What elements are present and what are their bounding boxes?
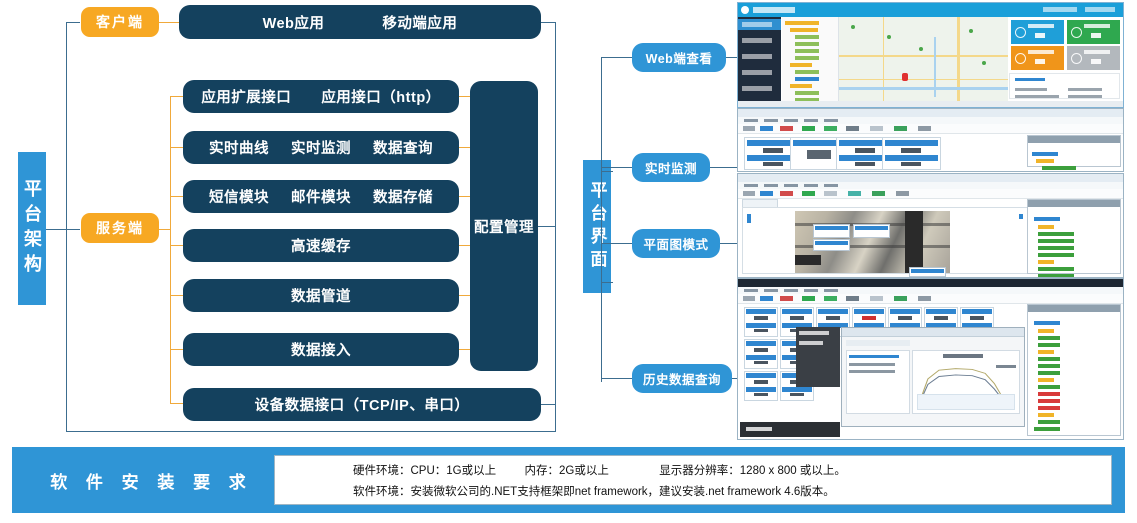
tree-node-9-alarm[interactable] (1038, 406, 1060, 410)
map-poi-3[interactable] (919, 47, 923, 51)
ui-trunk-label-join-top (601, 171, 613, 172)
config-stub-1 (459, 96, 470, 97)
tile-value-1b (763, 162, 783, 166)
dialog-tabs[interactable] (846, 340, 910, 346)
client-item-web: Web应用 (263, 12, 325, 33)
callout-history-query[interactable]: 历史数据查询 (632, 364, 732, 393)
status-bar (738, 101, 1123, 107)
menu-item-1[interactable] (744, 289, 758, 292)
sidebar-item-1[interactable] (742, 22, 772, 27)
tree-node-7-alarm[interactable] (1038, 392, 1060, 396)
tile-header-3 (818, 309, 848, 314)
toolbar-button-3[interactable] (780, 126, 793, 131)
config-management-label: 配置管理 (474, 216, 534, 237)
toolbar-button-2[interactable] (760, 191, 773, 196)
toolbar-button-3[interactable] (780, 191, 793, 196)
tree-node-5[interactable] (1038, 371, 1060, 375)
menu-item-1[interactable] (744, 184, 758, 187)
tile-header-4b (885, 155, 938, 161)
left-frame-config-join (538, 226, 556, 227)
service-item-data-query: 数据查询 (373, 137, 433, 158)
menu-item-3[interactable] (784, 184, 798, 187)
config-stub-4 (459, 245, 470, 246)
menu-item-3[interactable] (784, 289, 798, 292)
info-row-1-label (1015, 88, 1047, 91)
menu-item-2[interactable] (764, 289, 778, 292)
tree-node-4[interactable] (795, 56, 819, 60)
map-canvas[interactable] (839, 17, 1008, 101)
service-item-high-speed-cache: 高速缓存 (291, 235, 351, 256)
config-stub-3 (459, 196, 470, 197)
sidebar-item-2[interactable] (742, 38, 772, 43)
menu-item-2[interactable] (764, 119, 778, 122)
header-menu-placeholder (1043, 7, 1077, 12)
config-stub-6 (459, 349, 470, 350)
tree-node-1[interactable] (1038, 336, 1060, 340)
toolbar-button-9[interactable] (918, 126, 931, 131)
dialog-titlebar (842, 328, 1024, 337)
service-item-realtime-monitor: 实时监测 (291, 137, 351, 158)
map-marker-selected[interactable] (902, 73, 908, 81)
tree-group-1[interactable] (1038, 225, 1054, 229)
sensor-label-1[interactable] (813, 224, 850, 238)
menu-item-3[interactable] (784, 119, 798, 122)
tile-status-2 (807, 150, 831, 159)
map-poi-5[interactable] (982, 61, 986, 65)
tree-group-4[interactable] (790, 84, 812, 88)
context-menu[interactable] (796, 327, 840, 387)
footer-log-panel (740, 422, 840, 437)
canvas-handle-right[interactable] (1019, 214, 1023, 219)
tile-value-1 (754, 316, 768, 320)
kpi-card-alarm[interactable] (1011, 46, 1064, 70)
kpi-label-2 (1084, 24, 1110, 28)
config-management-box[interactable]: 配置管理 (470, 81, 538, 371)
toolbar-button-6[interactable] (846, 126, 859, 131)
callout-2-to-shot (710, 167, 740, 168)
banner-requirements-card: 硬件环境：CPU：1G或以上 内存：2G或以上 显示器分辨率：1280 x 80… (274, 455, 1112, 505)
toolbar[interactable] (738, 124, 1123, 134)
ui-trunk-label-join-bottom (601, 282, 613, 283)
panel-header (1028, 305, 1120, 312)
service-item-realtime-curve: 实时曲线 (209, 137, 269, 158)
bus-stub-5 (170, 295, 183, 296)
tree-group-1[interactable] (785, 21, 819, 25)
kpi-value-1 (1035, 33, 1045, 38)
tile-header-1b (746, 323, 776, 328)
map-road-h1 (839, 55, 1008, 57)
software-requirements-banner: 软 件 安 装 要 求 硬件环境：CPU：1G或以上 内存：2G或以上 显示器分… (12, 447, 1125, 513)
toolbar[interactable] (738, 189, 1123, 199)
sensor-label-header-1 (815, 226, 848, 230)
tree-node-1[interactable] (795, 35, 819, 39)
map-road-h2 (839, 79, 1008, 80)
kpi-label-3 (1028, 50, 1054, 54)
measurement-tile-8[interactable] (744, 339, 778, 369)
tree-node-8-alarm[interactable] (1038, 399, 1060, 403)
kpi-icon-3 (1015, 53, 1026, 64)
tree-node-6[interactable] (795, 91, 819, 95)
info-row-2-label (1015, 95, 1059, 98)
tile-header-10b (746, 387, 776, 392)
device-tree-panel[interactable] (1027, 199, 1121, 274)
kpi-value-3 (1035, 59, 1045, 64)
tree-node-1[interactable] (1038, 232, 1074, 236)
tile-header-7 (962, 309, 992, 314)
tree-node-3[interactable] (795, 49, 819, 53)
kpi-card-online[interactable] (1067, 20, 1120, 44)
chart-title-placeholder (943, 354, 983, 358)
device-tree-panel[interactable] (1027, 135, 1121, 167)
config-stub-5 (459, 295, 470, 296)
kpi-card-total[interactable] (1011, 20, 1064, 44)
photo-dark-2 (795, 255, 821, 265)
kpi-icon-2 (1071, 27, 1082, 38)
toolbar-button-8[interactable] (896, 191, 909, 196)
service-item-data-storage: 数据存储 (373, 186, 433, 207)
history-query-screenshot[interactable] (737, 278, 1124, 440)
tree-node-5[interactable] (795, 70, 819, 74)
trunk-to-server-line (66, 229, 80, 230)
service-item-sms-module: 短信模块 (209, 186, 269, 207)
tile-value-10 (754, 380, 768, 384)
toolbar-button-2[interactable] (760, 296, 773, 301)
tree-group-2[interactable] (1038, 260, 1054, 264)
toolbar-button-5[interactable] (824, 126, 837, 131)
sensor-label-3[interactable] (813, 239, 850, 251)
tree-node-3[interactable] (1038, 357, 1060, 361)
history-trend-chart[interactable] (912, 350, 1020, 414)
tree-group-2[interactable] (790, 28, 818, 32)
map-dashboard-screenshot[interactable] (737, 2, 1124, 108)
tile-value-6 (934, 316, 948, 320)
footer-log-text (746, 427, 772, 431)
kpi-label-1 (1028, 24, 1054, 28)
tile-value-4-alarm (862, 316, 876, 320)
service-row-api[interactable]: 应用扩展接口 应用接口（http） (183, 80, 459, 113)
bus-stub-1 (170, 96, 183, 97)
tile-value-3b (855, 162, 875, 166)
floor-plan-screenshot[interactable] (737, 173, 1124, 278)
device-data-interface-box[interactable]: 设备数据接口（TCP/IP、串口） (183, 388, 541, 421)
bus-stub-2 (170, 147, 183, 148)
menu-item-1[interactable] (744, 119, 758, 122)
banner-title: 软 件 安 装 要 求 (34, 461, 269, 499)
service-item-data-pipeline: 数据管道 (291, 285, 351, 306)
tree-group-1[interactable] (1036, 159, 1054, 163)
tree-node-3[interactable] (1038, 246, 1074, 250)
tree-node-10[interactable] (1038, 420, 1060, 424)
info-row-1-value (1068, 88, 1102, 91)
toolbar-button-4[interactable] (802, 296, 815, 301)
toolbar[interactable] (738, 294, 1123, 304)
canvas-handle-left[interactable] (747, 214, 751, 223)
sidebar-item-5[interactable] (742, 86, 772, 91)
tile-value-7 (970, 316, 984, 320)
map-poi-2[interactable] (887, 35, 891, 39)
left-frame-left-bottom (66, 229, 67, 432)
device-tree-panel[interactable] (782, 17, 839, 101)
menu-item-4[interactable] (804, 184, 818, 187)
service-row-pipeline[interactable]: 数据管道 (183, 279, 459, 312)
service-item-app-api-http: 应用接口（http） (321, 86, 440, 107)
tile-header-2 (782, 309, 812, 314)
callout-realtime-monitor-label: 实时监测 (645, 158, 697, 177)
chart-range-brush[interactable] (917, 394, 1015, 410)
service-row-ingest[interactable]: 数据接入 (183, 333, 459, 366)
tree-root[interactable] (1034, 217, 1060, 221)
tier-badge-server[interactable]: 服务端 (81, 213, 159, 243)
panel-header (1028, 200, 1120, 207)
menu-item-4[interactable] (804, 289, 818, 292)
panel-header (1028, 136, 1120, 143)
callout-4-line (601, 378, 633, 379)
tile-value-5 (898, 316, 912, 320)
toolbar-button-8[interactable] (894, 126, 907, 131)
tree-node-2[interactable] (1038, 239, 1074, 243)
menu-item-5[interactable] (824, 289, 838, 292)
service-row-monitoring[interactable]: 实时曲线 实时监测 数据查询 (183, 131, 459, 164)
toolbar-button-2[interactable] (760, 126, 773, 131)
tree-node-selected[interactable] (795, 77, 819, 81)
tile-value-1 (763, 148, 783, 153)
callout-1-line (601, 57, 633, 58)
tree-group-4[interactable] (1038, 413, 1054, 417)
measurement-tile-1[interactable] (744, 307, 778, 337)
tree-node-5[interactable] (1038, 267, 1074, 271)
left-frame-bottom (66, 431, 556, 432)
map-river-2 (934, 37, 936, 97)
ui-trunk-vertical (601, 57, 602, 382)
tree-node-6[interactable] (1038, 385, 1060, 389)
callout-3-line (601, 243, 633, 244)
context-menu-item-1[interactable] (799, 331, 829, 335)
tree-group-2[interactable] (1038, 350, 1054, 354)
tile-header-10 (746, 373, 776, 378)
info-panel-title (1015, 78, 1045, 81)
tree-root[interactable] (1032, 152, 1058, 156)
toolbar-button-4[interactable] (802, 191, 815, 196)
callout-history-query-label: 历史数据查询 (643, 369, 721, 388)
grid-row-2[interactable] (849, 370, 895, 373)
tree-group-3[interactable] (1038, 378, 1054, 382)
software-requirement-text: 软件环境：安装微软公司的.NET支持框架即net framework，建议安装.… (353, 486, 835, 498)
hardware-resolution: 显示器分辨率：1280 x 800 或以上。 (659, 465, 846, 477)
window-titlebar (738, 279, 1123, 287)
left-frame-device-join (541, 404, 555, 405)
server-bus-vertical (170, 96, 171, 404)
device-tree-panel[interactable] (1027, 304, 1121, 436)
service-row-cache[interactable]: 高速缓存 (183, 229, 459, 262)
tile-value-4 (901, 148, 921, 153)
measurement-tile-10[interactable] (744, 371, 778, 401)
tree-node-2[interactable] (1038, 343, 1060, 347)
menu-bar[interactable] (738, 287, 1123, 294)
sensor-label-2[interactable] (853, 224, 890, 238)
bus-stub-7 (170, 403, 183, 404)
callout-floor-plan-mode-label: 平面图模式 (643, 234, 708, 253)
tile-value-3 (855, 148, 875, 153)
callout-floor-plan-mode[interactable]: 平面图模式 (632, 229, 720, 258)
toolbar-button-4[interactable] (802, 126, 815, 131)
map-poi-4[interactable] (969, 29, 973, 33)
toolbar-button-6[interactable] (846, 296, 859, 301)
context-menu-item-2[interactable] (799, 341, 823, 345)
map-river (839, 87, 1008, 90)
photo-dark-1 (905, 211, 923, 273)
toolbar-button-7[interactable] (872, 191, 885, 196)
menu-bar[interactable] (738, 117, 1123, 124)
header-user-placeholder (1085, 7, 1115, 12)
tree-group-1[interactable] (1038, 329, 1054, 333)
toolbar-button-5[interactable] (824, 191, 837, 196)
menu-item-5[interactable] (824, 119, 838, 122)
tile-value-8b (754, 361, 768, 364)
sensor-label-header-2 (855, 226, 888, 230)
tile-header-8b (746, 355, 776, 360)
floor-plan-canvas[interactable] (742, 207, 1028, 274)
tile-header-6 (926, 309, 956, 314)
kpi-icon-1 (1015, 27, 1026, 38)
tree-node-2[interactable] (795, 42, 819, 46)
info-row-2-value (1068, 95, 1102, 98)
hardware-prefix: 硬件环境：CPU：1G或以上 (353, 465, 496, 477)
menu-bar[interactable] (738, 182, 1123, 189)
measurement-tile-4[interactable] (882, 137, 941, 170)
toolbar-button-8[interactable] (894, 296, 907, 301)
menu-item-4[interactable] (804, 119, 818, 122)
bus-stub-3 (170, 196, 183, 197)
kpi-label-4 (1084, 50, 1110, 54)
toolbar-button-1[interactable] (743, 191, 755, 196)
tree-node-4[interactable] (1038, 253, 1074, 257)
sensor-label-header-4 (911, 269, 944, 273)
tile-value-4b (901, 162, 921, 166)
tree-root[interactable] (1034, 321, 1060, 325)
config-stub-2 (459, 147, 470, 148)
sidebar-item-4[interactable] (742, 70, 772, 75)
kpi-value-2 (1091, 33, 1101, 38)
menu-item-2[interactable] (764, 184, 778, 187)
bus-stub-4 (170, 245, 183, 246)
app-title-placeholder (753, 7, 795, 13)
service-item-email-module: 邮件模块 (291, 186, 351, 207)
realtime-monitor-screenshot[interactable] (737, 108, 1124, 172)
left-frame-top (541, 22, 555, 23)
tile-value-8 (754, 348, 768, 352)
tree-node-1[interactable] (1042, 166, 1076, 170)
callout-2-line (601, 167, 633, 168)
toolbar-button-1[interactable] (743, 296, 755, 301)
hardware-memory: 内存：2G或以上 (525, 465, 609, 477)
toolbar-button-7[interactable] (870, 126, 883, 131)
trunk-vertical-line (66, 22, 67, 230)
left-frame-right (555, 22, 556, 432)
kpi-card-offline[interactable] (1067, 46, 1120, 70)
trunk-to-client-line (66, 22, 80, 23)
tree-node-4[interactable] (1038, 364, 1060, 368)
toolbar-button-5[interactable] (824, 296, 837, 301)
history-query-dialog[interactable] (841, 327, 1025, 427)
callout-web-view[interactable]: Web端查看 (632, 43, 726, 72)
grid-header-row (849, 355, 899, 358)
result-grid[interactable] (846, 350, 910, 414)
requirement-line-hardware: 硬件环境：CPU：1G或以上 内存：2G或以上 显示器分辨率：1280 x 80… (275, 461, 1111, 482)
client-item-mobile: 移动端应用 (382, 12, 457, 33)
architecture-diagram: 平台架构 客户端 服务端 Web应用 移动端应用 应用扩展接口 应用接口（htt… (0, 0, 1137, 523)
tile-header-1 (746, 309, 776, 314)
sensor-label-4[interactable] (909, 267, 946, 277)
app-logo-icon (741, 6, 749, 14)
toolbar-button-1[interactable] (743, 126, 755, 131)
tile-value-2 (790, 316, 804, 320)
tree-group-3[interactable] (790, 63, 812, 67)
tile-header-4 (854, 309, 884, 314)
platform-ui-label: 平台界面 (583, 160, 611, 293)
tile-header-4 (885, 140, 938, 146)
map-poi-1[interactable] (851, 25, 855, 29)
service-item-app-extension-api: 应用扩展接口 (201, 86, 291, 107)
sidebar-nav[interactable] (738, 17, 781, 101)
kpi-icon-4 (1071, 53, 1082, 64)
toolbar-button-7[interactable] (870, 296, 883, 301)
tile-value-11b (790, 393, 804, 396)
menu-item-5[interactable] (824, 184, 838, 187)
sensor-label-header-3 (815, 241, 848, 245)
client-applications-box[interactable]: Web应用 移动端应用 (179, 5, 541, 39)
tree-node-11[interactable] (1034, 427, 1060, 431)
bus-stub-6 (170, 349, 183, 350)
toolbar-button-6[interactable] (848, 191, 861, 196)
tile-header-11b (782, 387, 812, 392)
client-to-box-line (159, 22, 179, 23)
callout-realtime-monitor[interactable]: 实时监测 (632, 153, 710, 182)
requirement-line-software: 软件环境：安装微软公司的.NET支持框架即net framework，建议安装.… (275, 482, 1111, 503)
tile-header-5 (890, 309, 920, 314)
tier-badge-client[interactable]: 客户端 (81, 7, 159, 37)
device-item-interface: 设备数据接口（TCP/IP、串口） (255, 394, 470, 415)
tile-value-10b (754, 393, 768, 396)
toolbar-button-9[interactable] (918, 296, 931, 301)
toolbar-button-3[interactable] (780, 296, 793, 301)
platform-architecture-label: 平台架构 (18, 152, 46, 305)
service-item-data-ingest: 数据接入 (291, 339, 351, 360)
tile-header-8 (746, 341, 776, 346)
tile-value-1b (754, 329, 768, 332)
callout-web-view-label: Web端查看 (646, 48, 713, 67)
kpi-value-4 (1091, 59, 1101, 64)
trunk-to-label-line (46, 229, 67, 230)
grid-row-1[interactable] (849, 363, 895, 366)
service-row-notification[interactable]: 短信模块 邮件模块 数据存储 (183, 180, 459, 213)
sidebar-item-3[interactable] (742, 54, 772, 59)
tile-value-3 (826, 316, 840, 320)
device-info-panel (1009, 73, 1120, 99)
server-to-bus-line (159, 229, 170, 230)
